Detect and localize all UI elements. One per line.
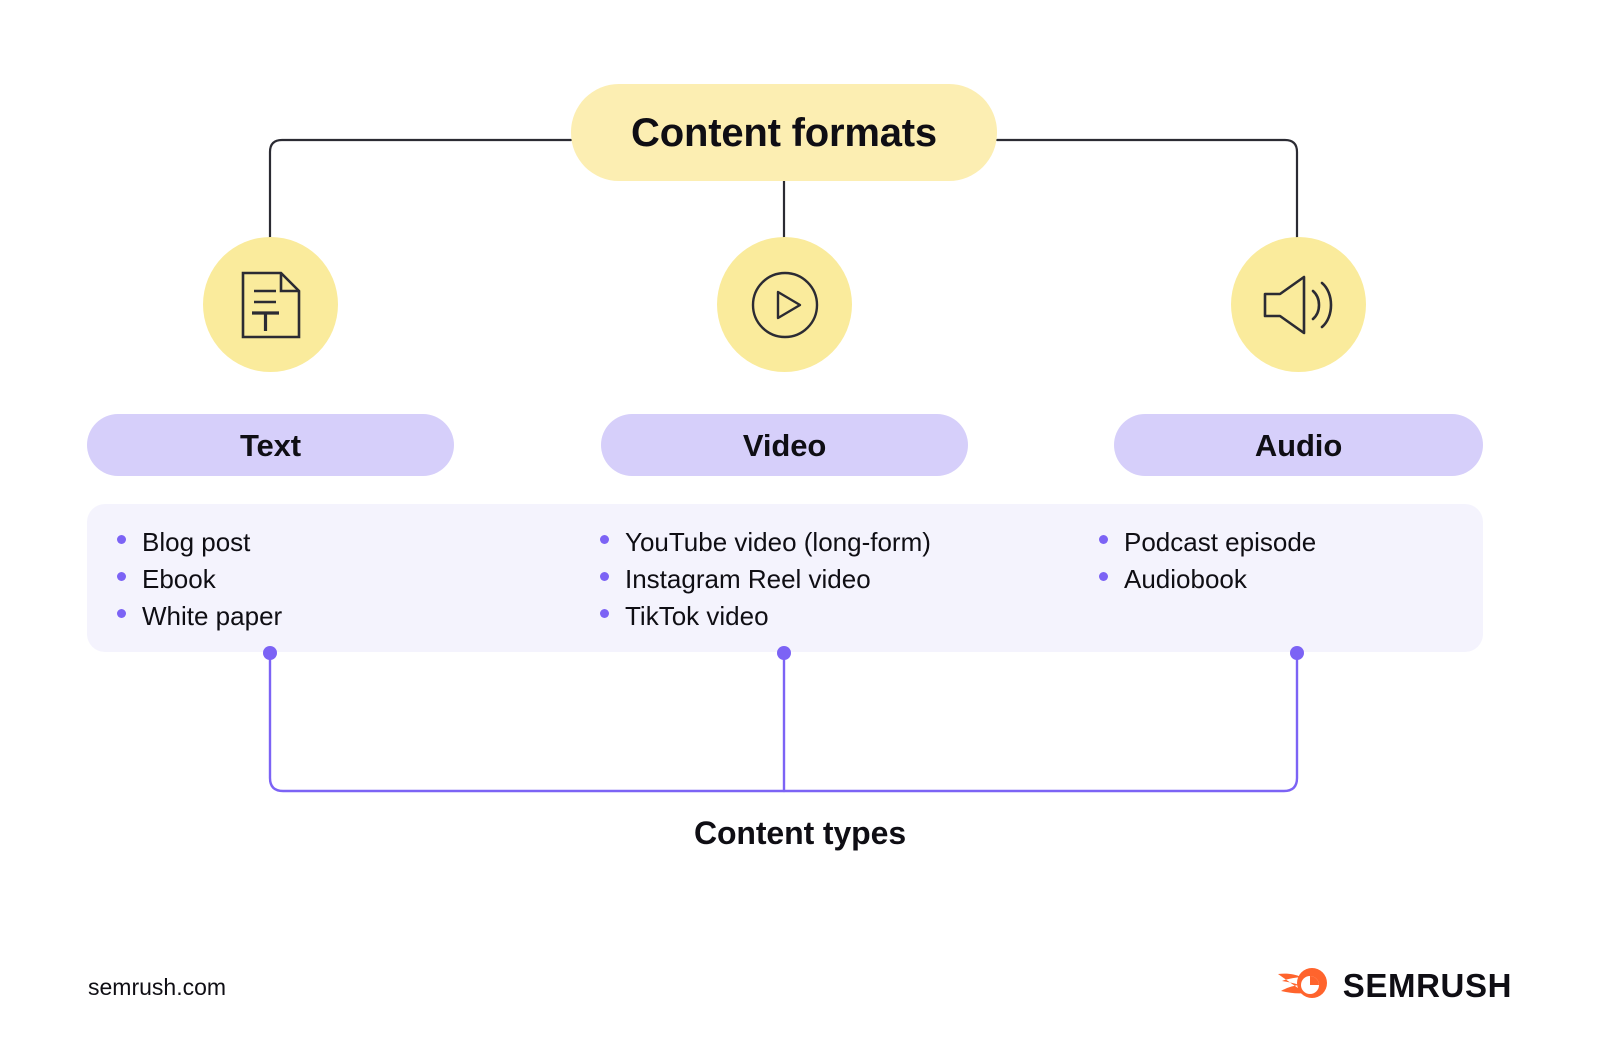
list-column-audio: Podcast episode Audiobook (1099, 524, 1479, 598)
category-label-audio: Audio (1255, 430, 1342, 461)
list-text: Blog post Ebook White paper (117, 524, 547, 635)
list-item-label: Instagram Reel video (625, 561, 871, 598)
play-circle-icon (749, 269, 821, 341)
bullet-icon (1099, 535, 1108, 544)
list-item-label: Blog post (142, 524, 250, 561)
icon-circle-text (203, 237, 338, 372)
list-column-text: Blog post Ebook White paper (117, 524, 547, 635)
list-item-label: White paper (142, 598, 282, 635)
semrush-wordmark: SEMRUSH (1343, 969, 1512, 1002)
bullet-icon (117, 609, 126, 618)
document-text-icon (239, 269, 303, 341)
speaker-volume-icon (1261, 272, 1337, 338)
diagram-canvas: Content formats (0, 0, 1600, 1052)
semrush-logo: SEMRUSH (1278, 965, 1512, 1006)
list-item: Ebook (117, 561, 547, 598)
bullet-icon (600, 609, 609, 618)
list-item: White paper (117, 598, 547, 635)
category-label-video: Video (743, 430, 826, 461)
category-pill-video: Video (601, 414, 968, 476)
footer-source-url: semrush.com (88, 974, 226, 1001)
list-column-video: YouTube video (long-form) Instagram Reel… (600, 524, 1070, 635)
category-pill-audio: Audio (1114, 414, 1483, 476)
icon-circle-audio (1231, 237, 1366, 372)
bullet-icon (117, 535, 126, 544)
list-item: Audiobook (1099, 561, 1479, 598)
content-types-panel: Blog post Ebook White paper YouTube vide… (87, 504, 1483, 652)
list-item-label: Podcast episode (1124, 524, 1316, 561)
category-pill-text: Text (87, 414, 454, 476)
bullet-icon (117, 572, 126, 581)
list-item-label: TikTok video (625, 598, 769, 635)
list-item-label: Ebook (142, 561, 216, 598)
list-item: Podcast episode (1099, 524, 1479, 561)
icon-circle-video (717, 237, 852, 372)
bullet-icon (600, 572, 609, 581)
category-label-text: Text (240, 430, 301, 461)
bottom-caption-content-types: Content types (0, 815, 1600, 852)
list-video: YouTube video (long-form) Instagram Reel… (600, 524, 1070, 635)
list-audio: Podcast episode Audiobook (1099, 524, 1479, 598)
bullet-icon (600, 535, 609, 544)
root-node-content-formats: Content formats (571, 84, 997, 181)
list-item-label: YouTube video (long-form) (625, 524, 931, 561)
list-item: Blog post (117, 524, 547, 561)
semrush-comet-icon (1278, 965, 1330, 1006)
list-item: TikTok video (600, 598, 1070, 635)
list-item: Instagram Reel video (600, 561, 1070, 598)
list-item-label: Audiobook (1124, 561, 1247, 598)
root-node-label: Content formats (631, 113, 937, 153)
list-item: YouTube video (long-form) (600, 524, 1070, 561)
bullet-icon (1099, 572, 1108, 581)
